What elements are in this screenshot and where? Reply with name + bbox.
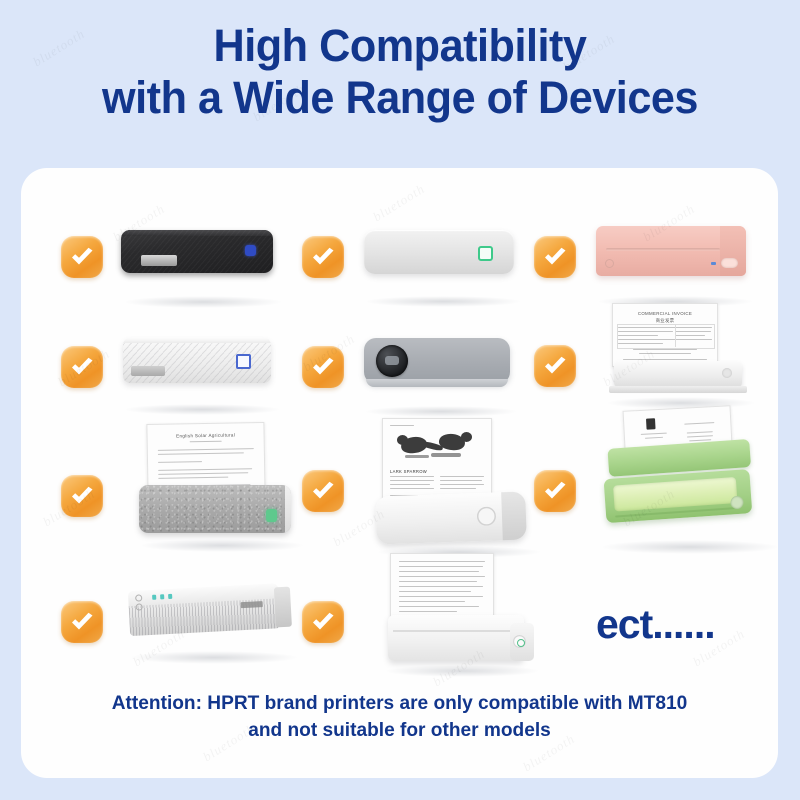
page-title: High Compatibility with a Wide Range of … bbox=[0, 20, 800, 124]
title-line-2: with a Wide Range of Devices bbox=[16, 72, 784, 124]
invoice-document: COMMERCIAL INVOICE 商业发票 bbox=[612, 303, 718, 367]
device-cell-gray-lens-printer[interactable] bbox=[302, 330, 532, 420]
device-cell-white-document-printer[interactable] bbox=[302, 553, 547, 678]
invoice-title: COMMERCIAL INVOICE bbox=[613, 311, 717, 316]
orange-checkmark-icon bbox=[61, 601, 103, 643]
device-grid: COMMERCIAL INVOICE 商业发票 bbox=[21, 168, 778, 778]
white-rounded-printer bbox=[375, 491, 527, 544]
black-carbon-printer bbox=[121, 230, 273, 273]
white-textured-printer bbox=[123, 338, 271, 383]
device-cell-white-textured-printer[interactable] bbox=[61, 330, 291, 420]
etc-cell: ect...... bbox=[534, 573, 774, 663]
chinese-document bbox=[390, 553, 494, 621]
device-cell-pink-portable-printer[interactable] bbox=[534, 216, 769, 308]
pink-portable-printer bbox=[596, 226, 746, 276]
orange-checkmark-icon bbox=[302, 470, 344, 512]
gray-lens-printer bbox=[364, 338, 510, 384]
attention-line-2: and not suitable for other models bbox=[29, 717, 771, 744]
device-cell-light-gray-printer[interactable] bbox=[302, 218, 532, 308]
device-cell-gray-felt-printer[interactable]: English Solar Agricultural bbox=[61, 423, 301, 553]
orange-checkmark-icon bbox=[302, 346, 344, 388]
device-card: COMMERCIAL INVOICE 商业发票 bbox=[21, 168, 778, 778]
invoice-printer bbox=[614, 361, 742, 387]
light-gray-printer bbox=[364, 230, 514, 274]
orange-checkmark-icon bbox=[61, 475, 103, 517]
gray-felt-printer bbox=[139, 485, 291, 533]
orange-checkmark-icon bbox=[302, 601, 344, 643]
orange-checkmark-icon bbox=[534, 470, 576, 512]
device-cell-silver-ribbed-printer[interactable] bbox=[61, 573, 301, 673]
device-cell-black-carbon-printer[interactable] bbox=[61, 218, 291, 308]
attention-line-1: Attention: HPRT brand printers are only … bbox=[29, 690, 771, 717]
orange-checkmark-icon bbox=[534, 345, 576, 387]
title-line-1: High Compatibility bbox=[16, 20, 784, 72]
bird-document: LARK SPARROW bbox=[382, 418, 492, 502]
orange-checkmark-icon bbox=[534, 236, 576, 278]
infographic-page: High Compatibility with a Wide Range of … bbox=[0, 0, 800, 800]
device-cell-white-rounded-printer[interactable]: LARK SPARROW bbox=[302, 418, 547, 558]
green-open-printer bbox=[601, 439, 756, 527]
orange-checkmark-icon bbox=[61, 236, 103, 278]
felt-doc-title: English Solar Agricultural bbox=[148, 432, 264, 439]
device-cell-green-open-printer[interactable] bbox=[534, 408, 784, 558]
silver-ribbed-printer bbox=[128, 583, 286, 639]
orange-checkmark-icon bbox=[302, 236, 344, 278]
white-document-printer bbox=[388, 615, 524, 661]
orange-checkmark-icon bbox=[61, 346, 103, 388]
etc-label: ect...... bbox=[596, 601, 715, 648]
bird-doc-label: LARK SPARROW bbox=[390, 469, 491, 474]
attention-note: Attention: HPRT brand printers are only … bbox=[21, 690, 778, 744]
device-cell-invoice-printer[interactable]: COMMERCIAL INVOICE 商业发票 bbox=[534, 303, 774, 421]
